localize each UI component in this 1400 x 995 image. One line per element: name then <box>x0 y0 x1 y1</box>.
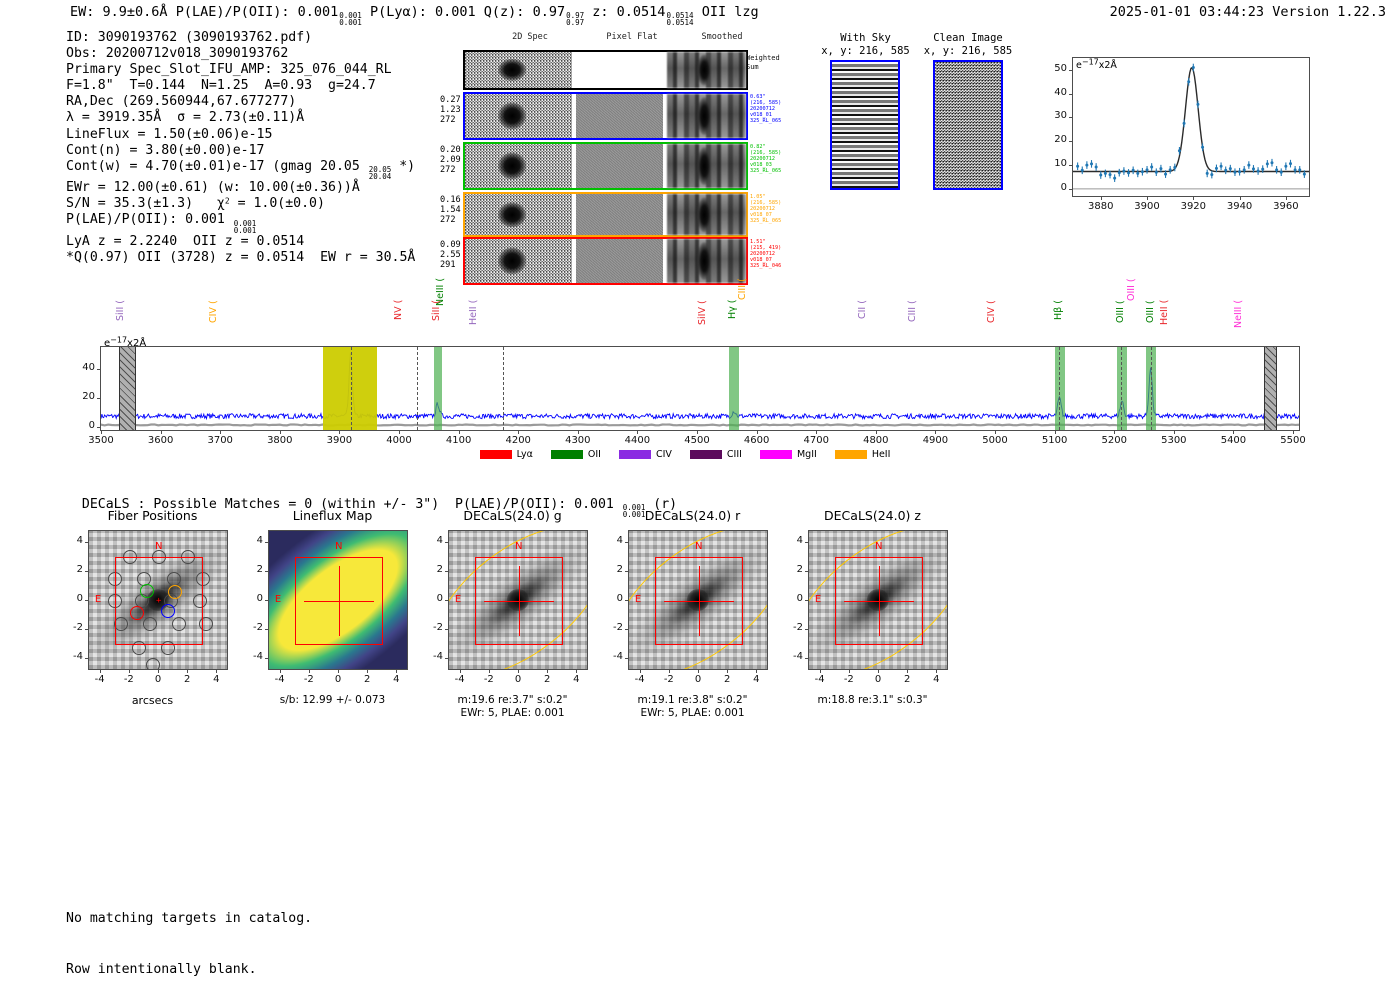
fit-y-tick <box>1069 165 1072 166</box>
source-blob <box>498 247 526 274</box>
panel-x-tick-label: -4 <box>86 674 114 685</box>
image-panel-row: Fiber Positions+NE-4-2024-4-2024arcsecsL… <box>40 508 1040 713</box>
east-label: E <box>95 594 101 605</box>
panel-y-tick-label: 0 <box>602 593 623 604</box>
panel-y-tick-label: 2 <box>782 564 803 575</box>
image-panel-canvas[interactable]: NE <box>448 530 588 670</box>
fit-x-tick <box>1286 197 1287 200</box>
info-seeing: F=1.8" T=0.144 N=1.25 A=0.93 g=24.7 <box>66 78 415 94</box>
spectrum-x-tick <box>1233 431 1234 434</box>
legend-label: Lyα <box>517 449 533 460</box>
footer-line-2: Row intentionally blank. <box>66 961 312 978</box>
smoothed-blob <box>698 147 711 185</box>
image-panel-title: DECaLS(24.0) g <box>420 508 605 523</box>
spectrum-x-tick-label: 4400 <box>612 435 662 446</box>
info-obs: Obs: 20200712v018_3090193762 <box>66 46 415 62</box>
legend-color-swatch <box>551 450 583 459</box>
crosshair-center-gap <box>511 593 527 609</box>
header-plya-label: P(Lyα): <box>370 4 435 20</box>
spec2d-2dspec-image <box>465 194 572 235</box>
spectrum-y-tick <box>97 369 100 370</box>
header-plae-lo: 0.001 <box>339 19 362 26</box>
spec2d-row[interactable] <box>463 92 748 140</box>
spectrum-line-marker <box>1059 347 1060 430</box>
spec2d-row-exposure-label: 1.05" (216, 585) 20200712 v018_07 325_RL… <box>750 194 781 224</box>
spectrum-emission-label: SiIV ( <box>697 300 708 346</box>
info-contw-post: *) <box>391 159 415 174</box>
legend-item[interactable]: MgII <box>760 449 817 460</box>
north-label: N <box>695 541 702 552</box>
panel-x-tick <box>727 670 728 673</box>
spec2d-row[interactable] <box>463 50 748 90</box>
spec2d-col-title-2dspec: 2D Spec <box>488 32 572 42</box>
info-redshifts: LyA z = 2.2240 OII z = 0.0514 <box>66 234 415 250</box>
info-sn-chi2: S/N = 35.3(±1.3) χ2 = 1.0(±0.0) <box>66 196 415 212</box>
spectrum-x-tick-label: 4000 <box>374 435 424 446</box>
fit-x-tick-label: 3960 <box>1264 201 1308 212</box>
east-label: E <box>455 594 461 605</box>
panel-y-tick <box>445 571 448 572</box>
spectrum-x-tick-label: 5300 <box>1149 435 1199 446</box>
north-label: N <box>335 541 342 552</box>
spec2d-smoothed-image <box>667 144 746 188</box>
spectrum-emission-label: OIII ( <box>1126 278 1137 346</box>
fit-y-tick <box>1069 117 1072 118</box>
panel-x-tick <box>129 670 130 673</box>
panel-y-tick <box>805 600 808 601</box>
spectrum-x-tick-label: 5200 <box>1089 435 1139 446</box>
panel-y-tick <box>625 658 628 659</box>
spectrum-x-tick-label: 4700 <box>791 435 841 446</box>
fit-plot-axes[interactable] <box>1072 57 1310 197</box>
spectrum-emission-label: CIV ( <box>208 300 219 346</box>
east-label: E <box>275 594 281 605</box>
panel-y-tick-label: 4 <box>62 535 83 546</box>
image-panel-canvas[interactable]: NE <box>628 530 768 670</box>
spectrum-x-tick <box>1293 431 1294 434</box>
panel-x-tick-label: 2 <box>893 674 921 685</box>
spectrum-masked-region <box>119 347 136 430</box>
panel-x-tick <box>216 670 217 673</box>
spectrum-x-tick <box>518 431 519 434</box>
spectrum-x-tick <box>757 431 758 434</box>
header-flag: lzg <box>734 4 758 20</box>
fit-y-tick-label: 0 <box>1040 182 1067 193</box>
spectrum-x-tick <box>220 431 221 434</box>
panel-y-tick-label: -4 <box>602 651 623 662</box>
panel-y-tick-label: 2 <box>422 564 443 575</box>
panel-caption: m:19.6 re:3.7" s:0.2" <box>408 694 617 707</box>
image-panel-canvas[interactable]: NE <box>268 530 408 670</box>
panel-x-tick-label: -2 <box>655 674 683 685</box>
panel-x-tick <box>907 670 908 673</box>
spectrum-x-tick <box>459 431 460 434</box>
spectrum-x-tick-label: 4100 <box>434 435 484 446</box>
spectrum-y-tick-label: 40 <box>68 362 95 373</box>
panel-x-tick-label: 0 <box>324 674 352 685</box>
info-lineflux: LineFlux = 1.50(±0.06)e-15 <box>66 127 415 143</box>
panel-x-tick <box>576 670 577 673</box>
spectrum-x-tick <box>816 431 817 434</box>
panel-y-tick-label: 0 <box>422 593 443 604</box>
panel-y-tick <box>265 658 268 659</box>
spectrum-x-tick-label: 3900 <box>314 435 364 446</box>
legend-item[interactable]: CIV <box>619 449 672 460</box>
panel-y-tick-label: 0 <box>782 593 803 604</box>
panel-x-tick <box>936 670 937 673</box>
spec2d-row[interactable] <box>463 142 748 190</box>
panel-y-tick <box>85 571 88 572</box>
cutout-image-with-sky[interactable] <box>830 60 900 190</box>
spectrum-x-tick-label: 5400 <box>1208 435 1258 446</box>
legend-color-swatch <box>835 450 867 459</box>
header-qz-label: Q(z): <box>484 4 533 20</box>
spectrum-x-tick <box>637 431 638 434</box>
fit-x-tick <box>1147 197 1148 200</box>
fit-x-tick-label: 3900 <box>1125 201 1169 212</box>
spectrum-wavelength-band <box>729 347 739 430</box>
panel-x-tick <box>518 670 519 673</box>
header-qz-lo: 0.97 <box>566 19 584 26</box>
spectrum-emission-label: OIII ( <box>1145 300 1156 346</box>
panel-y-tick-label: -4 <box>242 651 263 662</box>
panel-x-tick <box>849 670 850 673</box>
panel-y-tick-label: 4 <box>422 535 443 546</box>
panel-y-tick-label: -2 <box>602 622 623 633</box>
spec2d-row-exposure-label: 1.51" (215, 419) 20200712 v018_07 325_RL… <box>750 239 781 269</box>
info-continuum-narrow: Cont(n) = 3.80(±0.00)e-17 <box>66 143 415 159</box>
spectrum-y-tick-label: 20 <box>68 391 95 402</box>
fiber-circle[interactable] <box>146 658 160 670</box>
fit-x-tick <box>1193 197 1194 200</box>
spectrum-emission-label: NeIII ( <box>1233 300 1244 346</box>
legend-color-swatch <box>760 450 792 459</box>
header-timestamp-version: 2025-01-01 03:44:23 Version 1.22.3 <box>1110 4 1386 20</box>
fit-y-tick-label: 50 <box>1040 63 1067 74</box>
spectrum-wavelength-band <box>434 347 442 430</box>
fit-y-tick <box>1069 70 1072 71</box>
panel-y-tick-label: -4 <box>62 651 83 662</box>
spec2d-2dspec-image <box>465 94 572 138</box>
panel-y-tick <box>85 629 88 630</box>
fit-y-tick <box>1069 94 1072 95</box>
crosshair-center-gap <box>691 593 707 609</box>
legend-color-swatch <box>480 450 512 459</box>
spectrum-line-marker <box>1121 347 1122 430</box>
info-primary-spec: Primary Spec_Slot_IFU_AMP: 325_076_044_R… <box>66 62 415 78</box>
spec2d-smoothed-image <box>667 239 746 283</box>
north-label: N <box>515 541 522 552</box>
fit-plot-units-label: e−17x2Å <box>1076 60 1117 71</box>
fit-y-tick <box>1069 189 1072 190</box>
panel-x-tick-label: 2 <box>353 674 381 685</box>
header-z-species: OII <box>702 4 726 20</box>
spec2d-row[interactable] <box>463 192 748 237</box>
panel-y-tick <box>805 542 808 543</box>
footer-line-1: No matching targets in catalog. <box>66 910 312 927</box>
panel-caption-secondary: EWr: 5, PLAE: 0.001 <box>588 707 797 720</box>
panel-x-tick-label: -2 <box>115 674 143 685</box>
spectrum-y-tick <box>97 427 100 428</box>
spec2d-pixelflat-image <box>576 52 663 88</box>
spectrum-x-tick <box>280 431 281 434</box>
spectrum-x-tick <box>697 431 698 434</box>
image-panel-title: DECaLS(24.0) z <box>780 508 965 523</box>
panel-x-tick-label: -4 <box>626 674 654 685</box>
panel-x-tick-label: -4 <box>446 674 474 685</box>
legend-label: CIV <box>656 449 672 460</box>
panel-y-tick <box>805 658 808 659</box>
smoothed-blob <box>698 97 711 135</box>
spec2d-pixelflat-image <box>576 194 663 235</box>
legend-item[interactable]: HeII <box>835 449 891 460</box>
panel-x-tick-label: 4 <box>742 674 770 685</box>
panel-x-tick <box>669 670 670 673</box>
spectrum-line-marker <box>1151 347 1152 430</box>
panel-x-tick <box>187 670 188 673</box>
crosshair-center-gap <box>871 593 887 609</box>
spectrum-x-tick <box>1055 431 1056 434</box>
fit-x-tick <box>1240 197 1241 200</box>
header-plae-value: 0.001 <box>298 4 339 20</box>
info-chi-symbol: χ <box>217 196 225 211</box>
image-panel-canvas[interactable]: NE <box>808 530 948 670</box>
panel-y-tick <box>625 600 628 601</box>
spec2d-row-metrics: 0.09 2.55 291 <box>440 240 461 271</box>
spectrum-line-marker <box>503 347 504 430</box>
header-z-label: z: <box>592 4 616 20</box>
target-center-marker: + <box>156 598 162 604</box>
spec2d-smoothed-image <box>667 194 746 235</box>
detection-info-block: ID: 3090193762 (3090193762.pdf) Obs: 202… <box>66 30 415 266</box>
panel-y-tick <box>445 629 448 630</box>
panel-x-tick-label: 2 <box>533 674 561 685</box>
fit-y-tick <box>1069 141 1072 142</box>
spectrum-x-tick-label: 4600 <box>732 435 782 446</box>
panel-x-tick <box>698 670 699 673</box>
header-z-lo: 0.0514 <box>666 19 693 26</box>
spectrum-legend: LyαOIICIVCIIIMgIIHeII <box>60 449 1310 460</box>
panel-caption: s/b: 12.99 +/- 0.073 <box>228 694 437 707</box>
spectrum-x-tick-label: 3800 <box>255 435 305 446</box>
panel-x-tick-label: 0 <box>684 674 712 685</box>
cutout-0-title: With Sky <box>818 32 913 45</box>
spec2d-pixelflat-image <box>576 144 663 188</box>
spectrum-x-tick <box>161 431 162 434</box>
spectrum-x-tick-label: 4500 <box>672 435 722 446</box>
panel-x-tick <box>309 670 310 673</box>
panel-y-tick-label: 0 <box>62 593 83 604</box>
info-id: ID: 3090193762 (3090193762.pdf) <box>66 30 415 46</box>
panel-x-tick <box>756 670 757 673</box>
panel-x-tick-label: 0 <box>504 674 532 685</box>
panel-caption: m:18.8 re:3.1" s:0.3" <box>768 694 977 707</box>
spectrum-masked-region <box>1264 347 1277 430</box>
smoothed-blob <box>698 242 711 280</box>
header-z-value: 0.0514 <box>617 4 666 20</box>
spectrum-x-tick-label: 3500 <box>76 435 126 446</box>
emission-line-fit-plot: e−17x2Å 3880390039203940396001020304050 <box>1030 43 1315 228</box>
cutout-1-subtitle: x, y: 216, 585 <box>918 45 1018 58</box>
source-blob <box>498 152 526 179</box>
spec2d-pixelflat-image <box>576 239 663 283</box>
panel-y-tick <box>85 658 88 659</box>
panel-x-tick <box>100 670 101 673</box>
legend-color-swatch <box>690 450 722 459</box>
spec2d-smoothed-image <box>667 52 746 88</box>
panel-y-tick <box>445 600 448 601</box>
spectrum-x-tick <box>101 431 102 434</box>
spec2d-smoothed-image <box>667 94 746 138</box>
header-version: Version 1.22.3 <box>1272 4 1386 20</box>
spectrum-x-tick <box>339 431 340 434</box>
header-plya-value: 0.001 <box>435 4 476 20</box>
panel-x-tick-label: 2 <box>173 674 201 685</box>
spec2d-2dspec-image <box>465 52 572 88</box>
spectrum-emission-label: HeII ( <box>468 300 479 346</box>
spectrum-x-tick <box>1114 431 1115 434</box>
fit-x-tick-label: 3880 <box>1079 201 1123 212</box>
panel-y-tick <box>85 542 88 543</box>
panel-x-tick-label: 4 <box>202 674 230 685</box>
spectrum-units-label: e−17x2Å <box>104 338 146 349</box>
info-ewr: EWr = 12.00(±0.61) (w: 10.00(±0.36))Å <box>66 180 415 196</box>
image-panel-canvas[interactable]: +NE <box>88 530 228 670</box>
panel-x-tick-label: -4 <box>806 674 834 685</box>
north-label: N <box>155 541 162 552</box>
spec2d-row-exposure-label: 0.63" (216, 585) 20200712 v018_01 325_RL… <box>750 94 781 124</box>
info-contw-lo: 20.04 <box>369 173 392 180</box>
spec2d-col-title-pixelflat: Pixel Flat <box>590 32 674 42</box>
fit-y-tick-label: 10 <box>1040 158 1067 169</box>
panel-x-tick <box>280 670 281 673</box>
panel-y-tick-label: 4 <box>782 535 803 546</box>
east-label: E <box>815 594 821 605</box>
panel-y-tick-label: 2 <box>62 564 83 575</box>
legend-item[interactable]: Lyα <box>480 449 533 460</box>
spec2d-row-exposure-label: 0.82" (216, 585) 20200712 v018_03 325_RL… <box>750 144 781 174</box>
spectrum-x-tick <box>1174 431 1175 434</box>
spec2d-2dspec-image <box>465 239 572 283</box>
source-blob <box>498 59 526 81</box>
spectrum-x-tick-label: 3700 <box>195 435 245 446</box>
fit-x-tick-label: 3940 <box>1218 201 1262 212</box>
panel-x-tick <box>820 670 821 673</box>
smoothed-blob <box>698 197 711 232</box>
legend-label: MgII <box>797 449 817 460</box>
legend-item[interactable]: OII <box>551 449 601 460</box>
legend-label: HeII <box>872 449 891 460</box>
panel-y-tick <box>445 542 448 543</box>
info-plae-line: P(LAE)/P(OII): 0.001 0.0010.001 <box>66 212 415 234</box>
cutout-0-subtitle: x, y: 216, 585 <box>818 45 913 58</box>
panel-x-tick <box>640 670 641 673</box>
image-panel-title: Fiber Positions <box>60 508 245 523</box>
info-sn-post: = 1.0(±0.0) <box>230 196 325 211</box>
panel-x-tick <box>158 670 159 673</box>
image-panel-title: Lineflux Map <box>240 508 425 523</box>
legend-item[interactable]: CIII <box>690 449 742 460</box>
spectrum-emission-label: CIII ( <box>737 278 748 346</box>
panel-y-tick-label: 4 <box>602 535 623 546</box>
spectrum-line-marker <box>351 347 352 430</box>
spectrum-x-tick-label: 3600 <box>136 435 186 446</box>
panel-x-tick-label: 0 <box>864 674 892 685</box>
spectrum-emission-label: Hβ ( <box>1053 300 1064 346</box>
spectrum-emission-label: CII ( <box>857 300 868 346</box>
spectrum-x-tick-label: 4800 <box>851 435 901 446</box>
footer-note: No matching targets in catalog. Row inte… <box>66 876 312 995</box>
panel-y-tick <box>265 571 268 572</box>
info-continuum-wide: Cont(w) = 4.70(±0.01)e-17 (gmag 20.05 20… <box>66 159 415 181</box>
cutout-image-clean[interactable] <box>933 60 1003 190</box>
spectrum-x-tick-label: 4200 <box>493 435 543 446</box>
source-blob <box>498 202 526 227</box>
panel-y-tick <box>805 571 808 572</box>
fit-y-tick-label: 30 <box>1040 110 1067 121</box>
header-plae-label: P(LAE)/P(OII): <box>176 4 298 20</box>
header-qz-value: 0.97 <box>533 4 566 20</box>
spectrum-x-tick-label: 4300 <box>553 435 603 446</box>
panel-y-tick-label: 2 <box>602 564 623 575</box>
legend-label: OII <box>588 449 601 460</box>
spectrum-emission-label: CIII ( <box>907 300 918 346</box>
spectrum-emission-label: CIV ( <box>986 300 997 346</box>
panel-x-tick-label: 0 <box>144 674 172 685</box>
north-label: N <box>875 541 882 552</box>
panel-x-tick-label: -2 <box>295 674 323 685</box>
panel-caption: m:19.1 re:3.8" s:0.2" <box>588 694 797 707</box>
panel-y-tick-label: -4 <box>422 651 443 662</box>
panel-y-tick <box>805 629 808 630</box>
header-summary-line: EW: 9.9±0.6Å P(LAE)/P(OII): 0.0010.0010.… <box>70 4 759 27</box>
spec2d-panel-group: 2D Spec Pixel Flat Smoothed Weighted Sum… <box>440 32 790 257</box>
panel-y-tick-label: -2 <box>242 622 263 633</box>
cutout-title-clean-image: Clean Image x, y: 216, 585 <box>918 32 1018 57</box>
info-contw-pre: Cont(w) = 4.70(±0.01)e-17 (gmag 20.05 <box>66 159 368 174</box>
east-label: E <box>635 594 641 605</box>
panel-x-tick <box>878 670 879 673</box>
panel-y-tick <box>265 600 268 601</box>
panel-x-tick-label: 4 <box>562 674 590 685</box>
spec2d-row-metrics: 0.20 2.09 272 <box>440 145 461 176</box>
cutout-group: With Sky x, y: 216, 585 Clean Image x, y… <box>818 32 1023 257</box>
legend-color-swatch <box>619 450 651 459</box>
spectrum-emission-label: OIII ( <box>1115 300 1126 346</box>
spectrum-x-tick-label: 5500 <box>1268 435 1318 446</box>
crosshair-vertical <box>339 566 340 636</box>
spectrum-emission-label: NV ( <box>393 300 404 346</box>
panel-y-tick-label: -2 <box>422 622 443 633</box>
spectrum-axes[interactable] <box>100 346 1300 431</box>
spec2d-row-metrics: 0.27 1.23 272 <box>440 95 461 126</box>
panel-x-tick-label: 4 <box>382 674 410 685</box>
panel-y-tick <box>625 542 628 543</box>
panel-x-tick <box>489 670 490 673</box>
header-ew: EW: 9.9±0.6Å <box>70 4 168 20</box>
panel-y-tick <box>265 542 268 543</box>
info-q-line: *Q(0.97) OII (3728) z = 0.0514 EW r = 30… <box>66 250 415 266</box>
spec2d-2dspec-image <box>465 144 572 188</box>
panel-y-tick-label: 2 <box>242 564 263 575</box>
panel-x-tick <box>396 670 397 673</box>
panel-y-tick-label: -2 <box>782 622 803 633</box>
panel-y-tick-label: 0 <box>242 593 263 604</box>
fit-x-tick-label: 3920 <box>1171 201 1215 212</box>
spectrum-y-tick <box>97 398 100 399</box>
panel-x-tick <box>367 670 368 673</box>
spectrum-line-marker <box>417 347 418 430</box>
